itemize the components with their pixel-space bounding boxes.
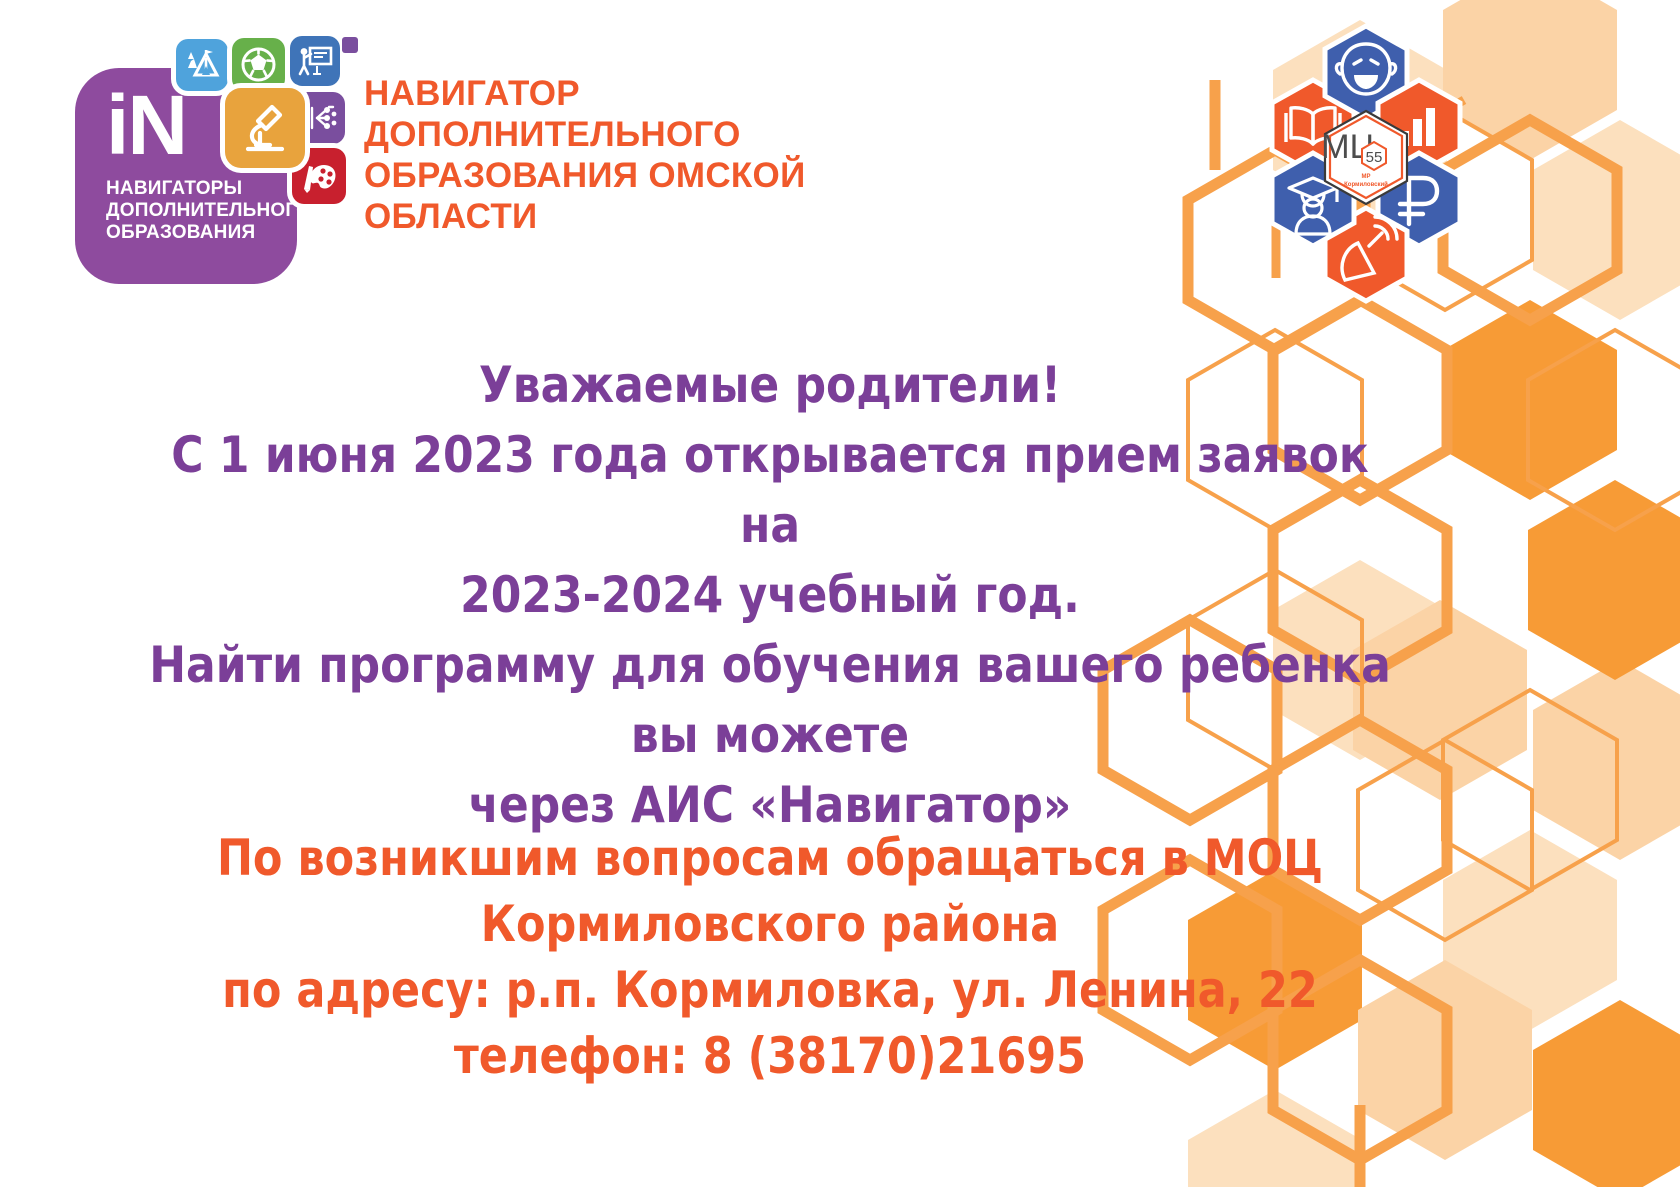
brand-lockup: iN НАВИГАТОРЫ ДОПОЛНИТЕЛЬНОГО ОБРАЗОВАНИ… [70,30,806,295]
navigator-logo-mark: iN НАВИГАТОРЫ ДОПОЛНИТЕЛЬНОГО ОБРАЗОВАНИ… [70,30,350,295]
contact-info: По возникшим вопросам обращаться в МОЦ К… [159,825,1380,1089]
brand-heading: НАВИГАТОР ДОПОЛНИТЕЛЬНОГО ОБРАЗОВАНИЯ ОМ… [364,73,806,237]
center-logo-number: 55 [1366,149,1383,166]
hex-cluster: МЦ 55 МР Кормиловский [1216,18,1516,308]
camp-tent-icon [176,39,228,91]
logo-subtitle: НАВИГАТОРЫ ДОПОЛНИТЕЛЬНОГО ОБРАЗОВАНИЯ [106,178,311,244]
center-logo-caption-line1: МР [1362,174,1371,180]
center-logo-caption-line2: Кормиловский [1344,181,1388,188]
microscope-icon [225,88,305,168]
soccer-ball-icon [232,38,285,91]
poster-canvas: iN НАВИГАТОРЫ ДОПОЛНИТЕЛЬНОГО ОБРАЗОВАНИ… [0,0,1680,1187]
logo-accent-square [342,37,358,53]
logo-letters: iN [106,88,186,162]
main-message: Уважаемые родители! С 1 июня 2023 года о… [145,350,1395,840]
teacher-board-icon [290,36,340,86]
